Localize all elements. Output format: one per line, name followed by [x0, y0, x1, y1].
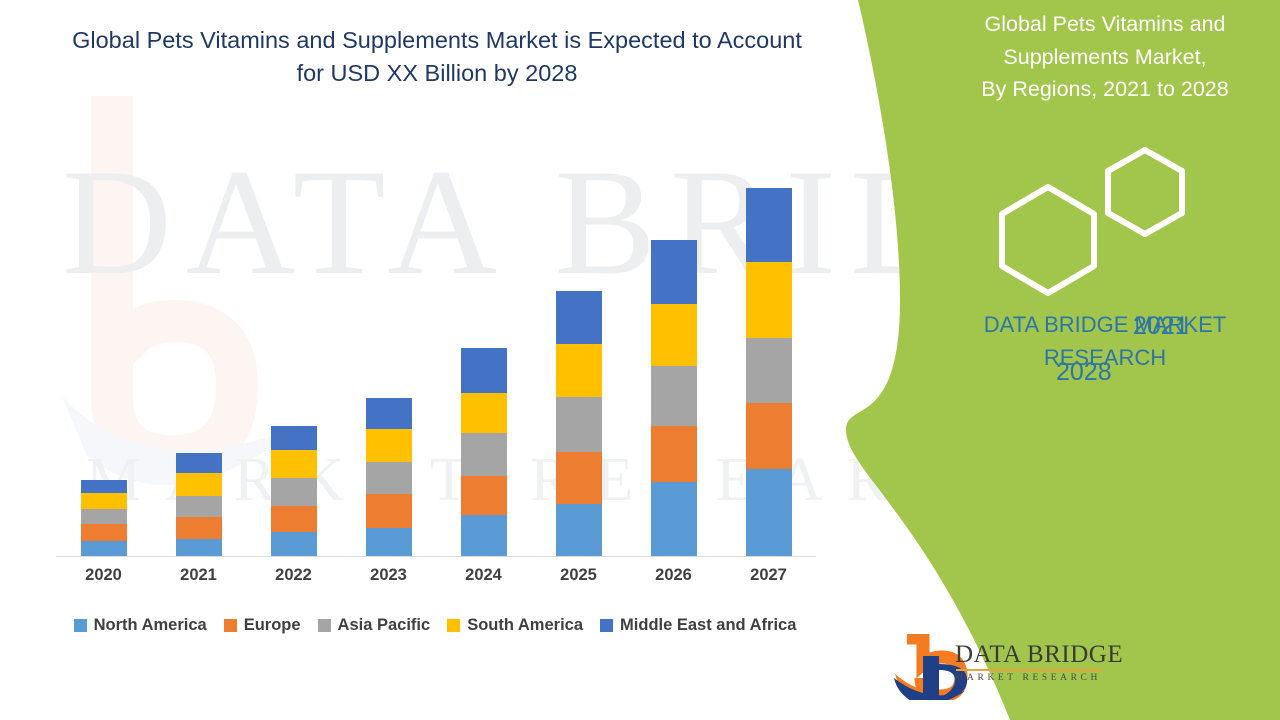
legend-label: Europe: [244, 616, 301, 635]
bar-segment: [271, 450, 317, 478]
bar-column: [436, 120, 531, 557]
x-axis-label: 2023: [341, 566, 436, 585]
brand-line-1: DATA BRIDGE MARKET: [930, 308, 1280, 341]
legend-item[interactable]: Europe: [224, 616, 301, 635]
x-axis-label: 2024: [436, 566, 531, 585]
legend-item[interactable]: Middle East and Africa: [600, 616, 796, 635]
bar-segment: [271, 506, 317, 532]
bar-segment: [366, 494, 412, 528]
bar-segment: [746, 338, 792, 403]
legend-item[interactable]: North America: [74, 616, 207, 635]
legend-label: Asia Pacific: [338, 616, 431, 635]
bar-segment: [176, 539, 222, 557]
legend-swatch: [600, 619, 613, 632]
x-axis-line: [56, 556, 816, 557]
hexagon-outline-icons: [970, 140, 1220, 300]
bar-segment: [366, 398, 412, 429]
bar-column: [341, 120, 436, 557]
bar-column: [721, 120, 816, 557]
bar-segment: [746, 403, 792, 469]
bar-segment: [176, 473, 222, 496]
chart-plot-area: [56, 120, 816, 557]
legend-swatch: [224, 619, 237, 632]
bar-segment: [461, 348, 507, 393]
logo-divider: [956, 669, 1102, 671]
bar-segment: [461, 515, 507, 557]
bar-column: [246, 120, 341, 557]
bar-segment: [81, 524, 127, 541]
bar-column: [531, 120, 626, 557]
logo-name-main: DATA BRIDGE: [955, 641, 1115, 668]
x-axis-label: 2020: [56, 566, 151, 585]
brand-line-2: RESEARCH: [930, 341, 1280, 374]
right-panel-title: Global Pets Vitamins and Supplements Mar…: [925, 8, 1280, 106]
bar-segment: [461, 393, 507, 433]
logo-name-sub: MARKET RESEARCH: [955, 673, 1115, 683]
right-panel-content: Global Pets Vitamins and Supplements Mar…: [930, 0, 1280, 720]
bar-segment: [556, 504, 602, 557]
bar-segment: [651, 240, 697, 304]
bar-stack: [746, 188, 792, 557]
bar-stack: [461, 348, 507, 557]
bar-segment: [746, 188, 792, 262]
bar-segment: [651, 482, 697, 557]
x-axis-label: 2021: [151, 566, 246, 585]
bar-stack: [81, 480, 127, 557]
hexagon-badges: 2028 2021: [970, 140, 1220, 300]
x-axis-label: 2025: [531, 566, 626, 585]
bar-segment: [176, 517, 222, 539]
chart-legend: North AmericaEuropeAsia PacificSouth Ame…: [40, 616, 830, 635]
infographic-canvas: DATA BRIDGE MARKET RESEARCH Global Pets …: [0, 0, 1280, 720]
bar-segment: [271, 532, 317, 557]
bar-segment: [651, 366, 697, 426]
bar-segment: [81, 541, 127, 557]
right-title-line-2: Supplements Market,: [925, 41, 1280, 74]
bar-segment: [651, 426, 697, 482]
bar-segment: [366, 429, 412, 462]
legend-label: North America: [94, 616, 207, 635]
bar-stack: [176, 453, 222, 557]
legend-swatch: [318, 619, 331, 632]
bar-segment: [176, 453, 222, 473]
bar-segment: [556, 397, 602, 452]
logo-wordmark: DATA BRIDGE MARKET RESEARCH: [955, 641, 1115, 683]
bar-stack: [366, 398, 412, 557]
chart-title: Global Pets Vitamins and Supplements Mar…: [72, 24, 802, 91]
bar-segment: [271, 426, 317, 450]
bar-segment: [176, 496, 222, 517]
bar-segment: [81, 480, 127, 493]
legend-item[interactable]: South America: [447, 616, 583, 635]
x-axis-label: 2027: [721, 566, 816, 585]
legend-swatch: [447, 619, 460, 632]
legend-item[interactable]: Asia Pacific: [318, 616, 431, 635]
bar-segment: [556, 452, 602, 504]
bar-segment: [746, 262, 792, 338]
bar-segment: [81, 493, 127, 509]
legend-swatch: [74, 619, 87, 632]
bar-column: [56, 120, 151, 557]
bar-stack: [556, 291, 602, 557]
bar-stack: [271, 426, 317, 557]
legend-label: Middle East and Africa: [620, 616, 796, 635]
right-panel-brand: DATA BRIDGE MARKET RESEARCH: [930, 308, 1280, 374]
hexagon-2028-shape: [1002, 187, 1094, 293]
x-axis-label: 2022: [246, 566, 341, 585]
bar-segment: [556, 291, 602, 344]
bar-segment: [366, 462, 412, 494]
bar-group: [56, 120, 816, 557]
right-title-line-3: By Regions, 2021 to 2028: [925, 73, 1280, 106]
bar-column: [151, 120, 246, 557]
bar-segment: [271, 478, 317, 506]
bar-segment: [366, 528, 412, 557]
bar-segment: [461, 476, 507, 515]
bar-segment: [746, 469, 792, 557]
bar-segment: [461, 433, 507, 476]
right-title-line-1: Global Pets Vitamins and: [925, 8, 1280, 41]
bar-column: [626, 120, 721, 557]
hexagon-2021-shape: [1108, 150, 1182, 234]
bar-segment: [651, 304, 697, 366]
x-axis-labels: 20202021202220232024202520262027: [56, 566, 816, 585]
legend-label: South America: [467, 616, 583, 635]
x-axis-label: 2026: [626, 566, 721, 585]
bar-segment: [556, 344, 602, 397]
bar-stack: [651, 240, 697, 557]
bar-segment: [81, 509, 127, 524]
